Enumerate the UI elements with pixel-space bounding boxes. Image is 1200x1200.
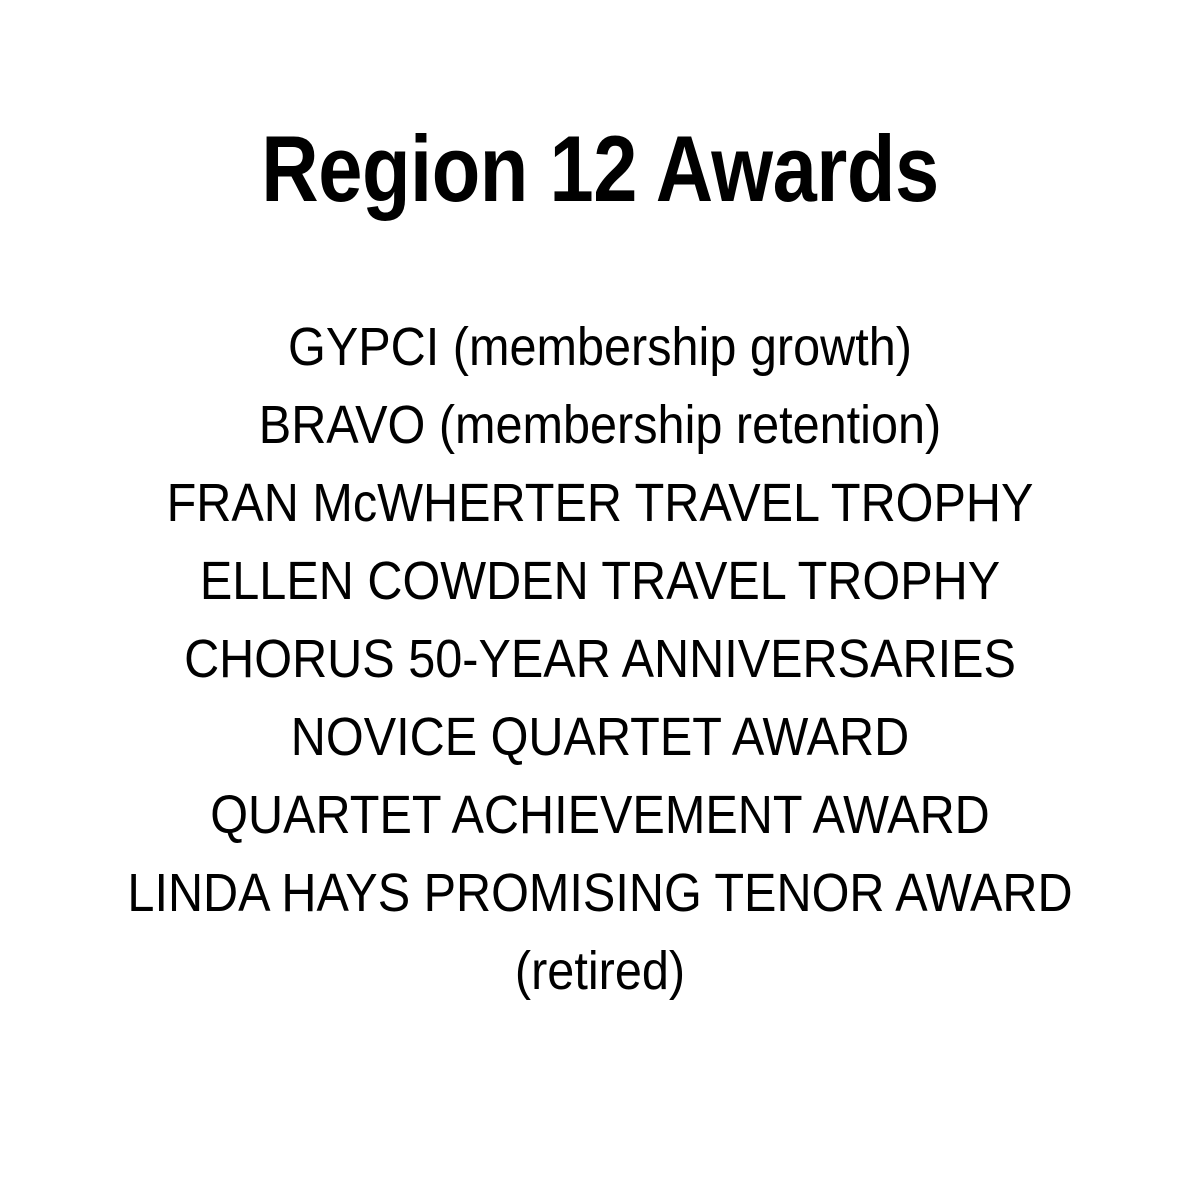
- award-item-novice-quartet-award: NOVICE QUARTET AWARD: [60, 698, 1140, 776]
- award-item-fran-mcwherter-travel-trophy: FRAN McWHERTER TRAVEL TROPHY: [60, 464, 1140, 542]
- award-item-label: LINDA HAYS PROMISING TENOR AWARD: [60, 854, 1140, 932]
- page-title: Region 12 Awards: [93, 122, 1107, 216]
- awards-slide: Region 12 Awards GYPCI (membership growt…: [0, 0, 1200, 1200]
- award-item-bravo: BRAVO (membership retention): [60, 386, 1140, 464]
- award-item-gypci: GYPCI (membership growth): [60, 308, 1140, 386]
- award-item-retired-note: (retired): [60, 932, 1140, 1010]
- award-item-ellen-cowden-travel-trophy: ELLEN COWDEN TRAVEL TROPHY: [60, 542, 1140, 620]
- award-item-linda-hays-promising-tenor-award: LINDA HAYS PROMISING TENOR AWARD (retire…: [60, 854, 1140, 1010]
- award-item-chorus-50-year-anniversaries: CHORUS 50-YEAR ANNIVERSARIES: [60, 620, 1140, 698]
- award-item-quartet-achievement-award: QUARTET ACHIEVEMENT AWARD: [60, 776, 1140, 854]
- awards-list: GYPCI (membership growth) BRAVO (members…: [0, 308, 1200, 1010]
